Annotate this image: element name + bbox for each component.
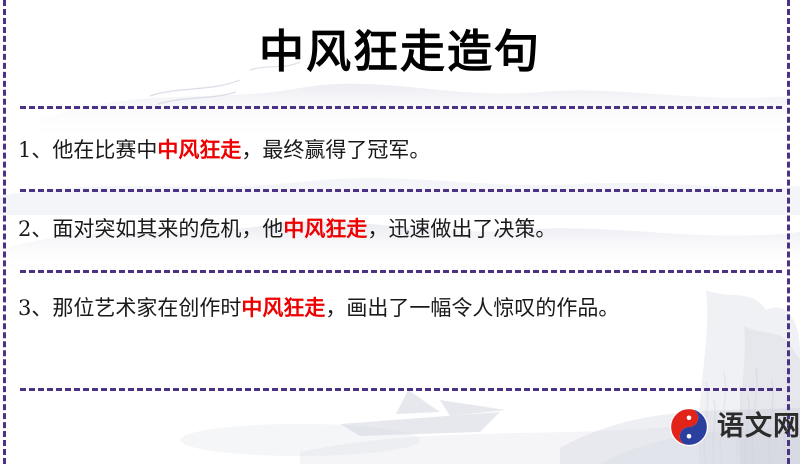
separator-above-sentence-1 (20, 106, 782, 109)
sentence-prefix: 面对突如其来的危机，他 (52, 217, 283, 241)
sentence-keyword: 中风狂走 (157, 137, 241, 162)
logo-text: 语文网 (717, 412, 800, 442)
sentence-index: 2、 (18, 217, 52, 241)
sentence-item: 3、那位艺术家在创作时中风狂走，画出了一幅令人惊叹的作品。 (18, 288, 780, 328)
sentence-item: 1、他在比赛中中风狂走，最终赢得了冠军。 (18, 130, 780, 170)
separator-above-sentence-2 (20, 189, 782, 192)
sentence-prefix: 他在比赛中 (52, 138, 157, 162)
frame-rail-left (3, 0, 6, 464)
sentence-index: 1、 (18, 138, 52, 162)
sentence-item: 2、面对突如其来的危机，他中风狂走，迅速做出了决策。 (18, 209, 780, 249)
page-root: 中风狂走造句 1、他在比赛中中风狂走，最终赢得了冠军。 2、面对突如其来的危机，… (0, 0, 800, 464)
taiji-fish-icon (668, 406, 710, 448)
sentence-suffix: ，最终赢得了冠军。 (241, 138, 430, 162)
sentence-suffix: ，画出了一幅令人惊叹的作品。 (325, 296, 619, 320)
sentence-index: 3、 (18, 296, 52, 320)
sentence-suffix: ，迅速做出了决策。 (367, 217, 556, 241)
page-title: 中风狂走造句 (0, 22, 800, 82)
site-logo[interactable]: 语文网 (668, 406, 800, 448)
boat-watermark (340, 390, 506, 436)
sentence-keyword: 中风狂走 (241, 295, 325, 320)
sentence-keyword: 中风狂走 (283, 216, 367, 241)
separator-below-sentence-3 (20, 388, 782, 391)
frame-rail-right (787, 0, 790, 464)
sentence-prefix: 那位艺术家在创作时 (52, 296, 241, 320)
separator-above-sentence-3 (20, 270, 782, 273)
